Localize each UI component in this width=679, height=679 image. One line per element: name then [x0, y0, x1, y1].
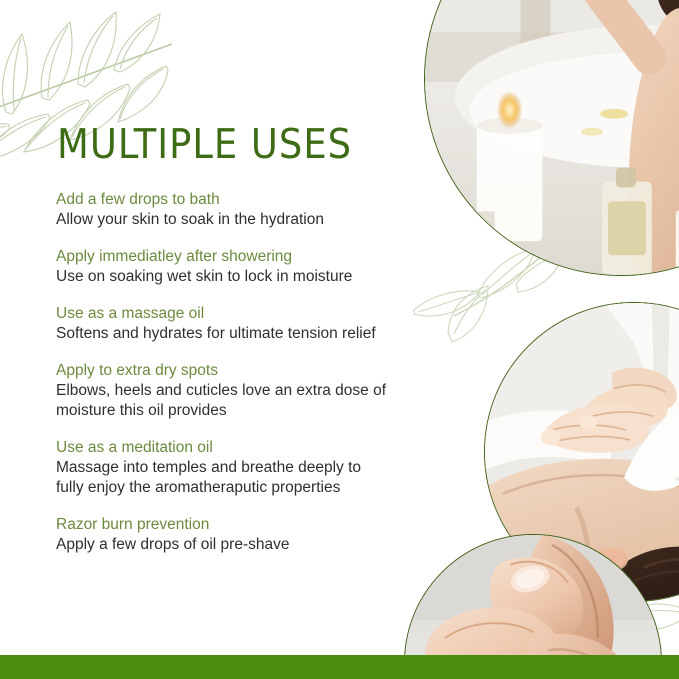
woman-in-bath-photo	[424, 0, 679, 276]
use-item-dry-spots: Apply to extra dry spots Elbows, heels a…	[56, 361, 436, 421]
use-item-shower: Apply immediatley after showering Use on…	[56, 247, 436, 287]
use-description: Use on soaking wet skin to lock in moist…	[56, 267, 436, 287]
use-heading: Use as a massage oil	[56, 304, 436, 324]
use-item-massage-oil: Use as a massage oil Softens and hydrate…	[56, 304, 436, 344]
use-heading: Use as a meditation oil	[56, 438, 436, 458]
use-item-meditation-oil: Use as a meditation oil Massage into tem…	[56, 438, 436, 498]
use-description-line1: Use on soaking wet skin to lock in moist…	[56, 268, 352, 285]
use-heading: Razor burn prevention	[56, 515, 436, 535]
use-description-line1: Massage into temples and breathe deeply …	[56, 459, 361, 476]
use-description-line1: Allow your skin to soak in the hydration	[56, 211, 324, 228]
use-description: Allow your skin to soak in the hydration	[56, 210, 436, 230]
use-description-line2: moisture this oil provides	[56, 401, 436, 421]
use-description: Elbows, heels and cuticles love an extra…	[56, 381, 436, 421]
use-description-line1: Softens and hydrates for ultimate tensio…	[56, 325, 376, 342]
use-description-line2: fully enjoy the aromatheraputic properti…	[56, 478, 436, 498]
use-description: Softens and hydrates for ultimate tensio…	[56, 324, 436, 344]
bottom-accent-bar	[0, 655, 679, 679]
uses-list: Add a few drops to bath Allow your skin …	[56, 190, 436, 555]
use-heading: Add a few drops to bath	[56, 190, 436, 210]
use-description: Massage into temples and breathe deeply …	[56, 458, 436, 498]
use-heading: Apply to extra dry spots	[56, 361, 436, 381]
multiple-uses-poster: MULTIPLE USES Add a few drops to bath Al…	[0, 0, 679, 679]
use-item-razor-burn: Razor burn prevention Apply a few drops …	[56, 515, 436, 555]
page-title: MULTIPLE USES	[57, 124, 352, 165]
use-description: Apply a few drops of oil pre-shave	[56, 535, 436, 555]
use-description-line1: Elbows, heels and cuticles love an extra…	[56, 382, 386, 399]
use-heading: Apply immediatley after showering	[56, 247, 436, 267]
use-description-line1: Apply a few drops of oil pre-shave	[56, 536, 289, 553]
use-item-bath: Add a few drops to bath Allow your skin …	[56, 190, 436, 230]
